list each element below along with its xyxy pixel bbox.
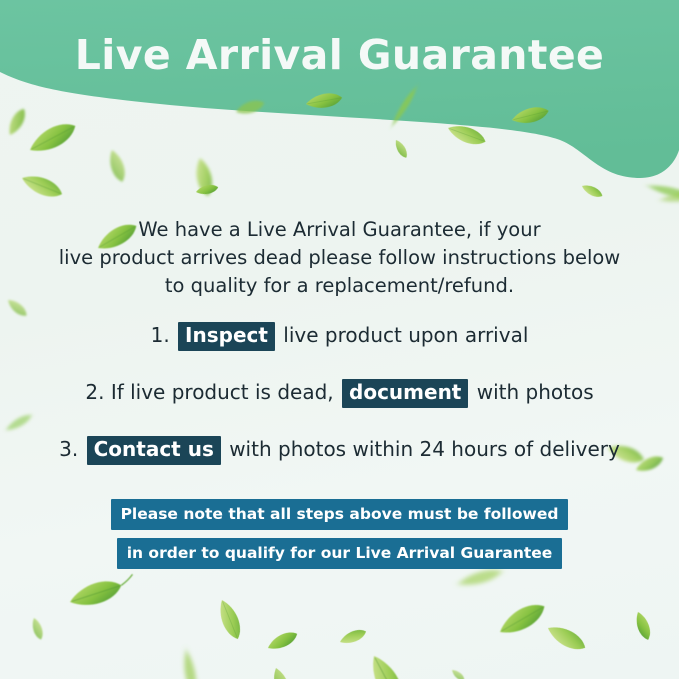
footer-note-line-1: Please note that all steps above must be…	[111, 499, 569, 530]
step-2-text-before: If live product is dead,	[111, 380, 334, 404]
step-3-number: 3.	[59, 437, 78, 461]
footer-note-row-1: Please note that all steps above must be…	[0, 499, 679, 530]
intro-line-1: We have a Live Arrival Guarantee, if you…	[50, 216, 629, 244]
step-2-highlight-document[interactable]: document	[342, 379, 468, 408]
step-item-2: 2. If live product is dead, document wit…	[0, 377, 679, 408]
page-title: Live Arrival Guarantee	[0, 31, 679, 79]
step-2-text-after: with photos	[477, 380, 594, 404]
step-1-number: 1.	[151, 323, 170, 347]
step-item-1: 1. Inspect live product upon arrival	[0, 320, 679, 351]
step-1-highlight-inspect[interactable]: Inspect	[178, 322, 275, 351]
intro-paragraph: We have a Live Arrival Guarantee, if you…	[50, 216, 629, 300]
poster-content: We have a Live Arrival Guarantee, if you…	[0, 0, 679, 679]
step-3-text-after: with photos within 24 hours of delivery	[229, 437, 620, 461]
intro-line-2: live product arrives dead please follow …	[50, 244, 629, 272]
step-1-text-after: live product upon arrival	[283, 323, 528, 347]
footer-notes: Please note that all steps above must be…	[0, 499, 679, 569]
footer-note-row-2: in order to qualify for our Live Arrival…	[0, 538, 679, 569]
step-item-3: 3. Contact us with photos within 24 hour…	[0, 434, 679, 465]
steps-list: 1. Inspect live product upon arrival 2. …	[0, 320, 679, 465]
live-arrival-guarantee-poster: Live Arrival Guarantee	[0, 0, 679, 679]
intro-line-3: to quality for a replacement/refund.	[50, 272, 629, 300]
footer-note-line-2: in order to qualify for our Live Arrival…	[117, 538, 563, 569]
step-3-highlight-contact-us[interactable]: Contact us	[87, 436, 221, 465]
step-2-number: 2.	[85, 380, 104, 404]
